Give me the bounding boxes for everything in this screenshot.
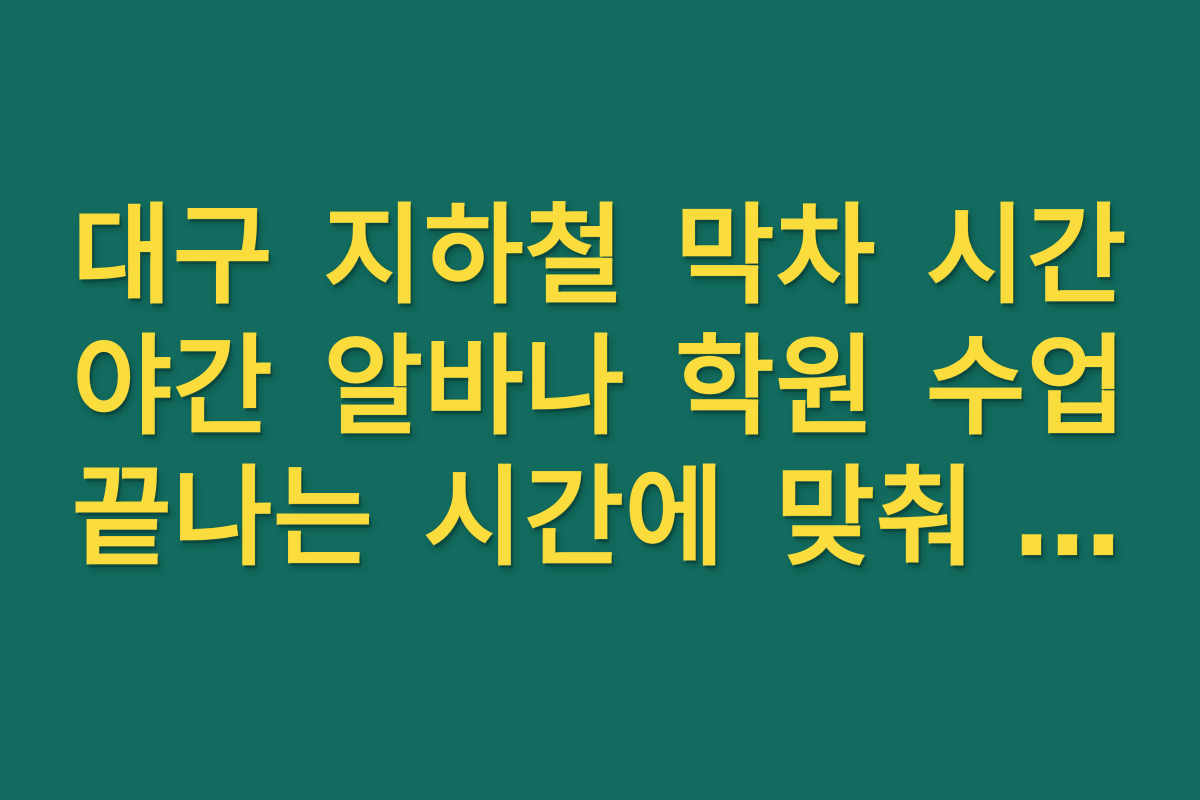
headline-line-1: 대구 지하철 막차 시간 [40,191,1160,322]
text-card: 대구 지하철 막차 시간 야간 알바나 학원 수업 끝나는 시간에 맞춰… [0,0,1200,800]
headline-line-2: 야간 알바나 학원 수업 [40,322,1160,453]
headline-line-3-text: 끝나는 시간에 맞춰 [72,456,977,581]
headline-line-3: 끝나는 시간에 맞춰… [40,453,1160,584]
truncation-ellipsis: … [1013,453,1127,584]
headline-block: 대구 지하철 막차 시간 야간 알바나 학원 수업 끝나는 시간에 맞춰… [0,191,1200,584]
